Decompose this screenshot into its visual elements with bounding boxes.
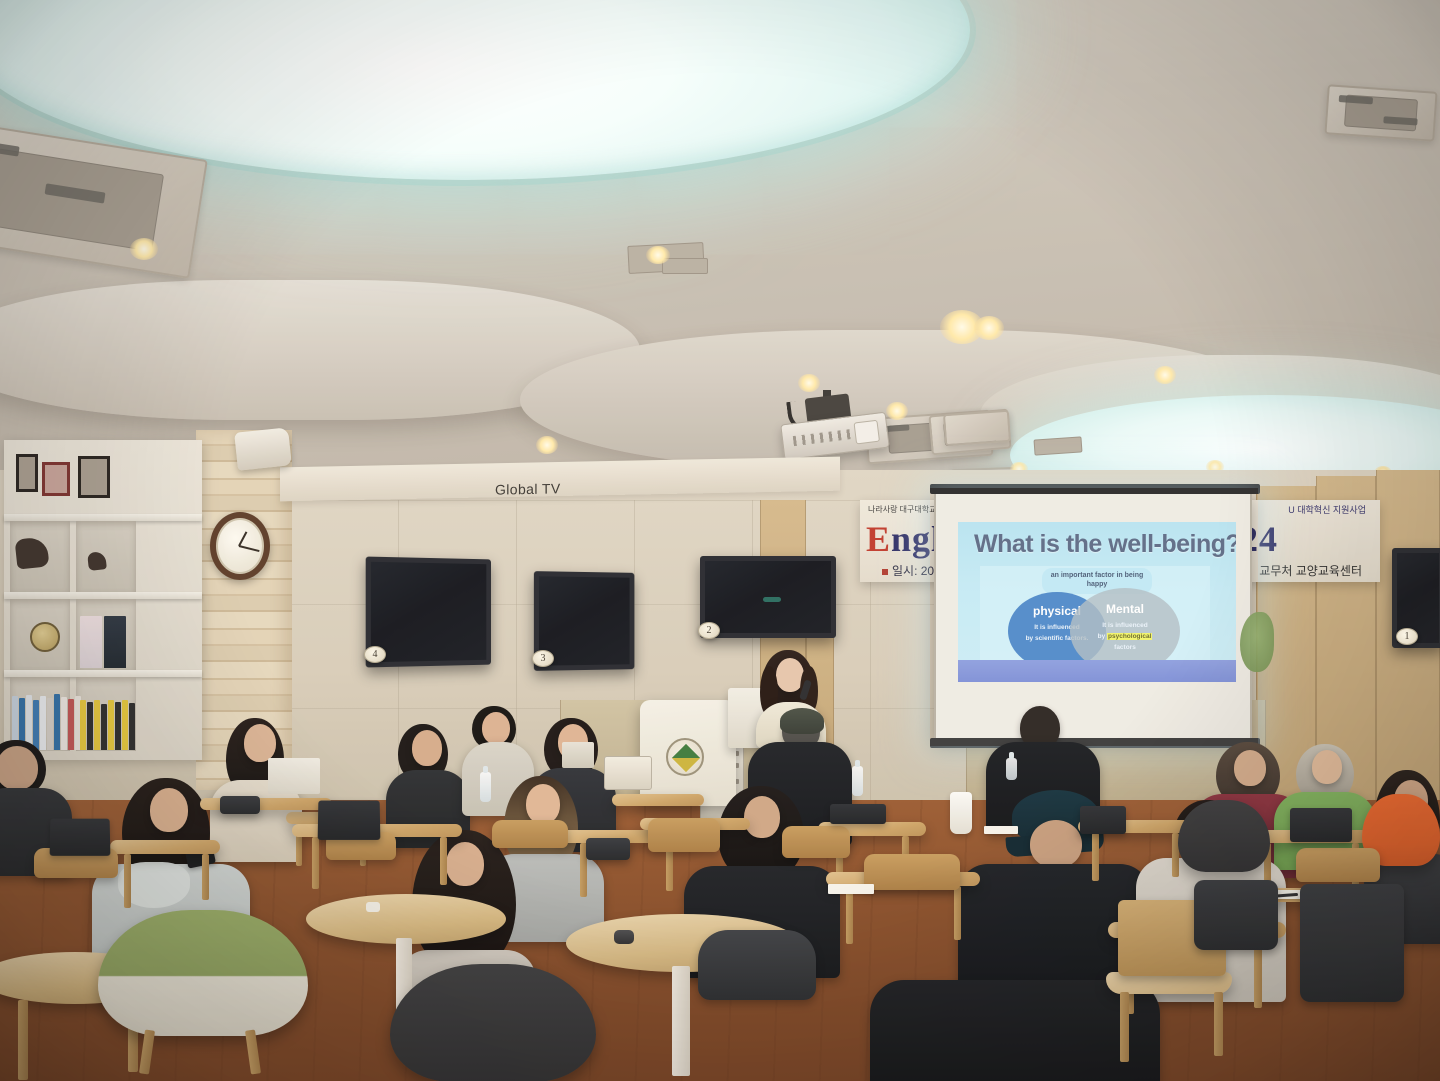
wall-tv-2 <box>700 556 836 638</box>
head <box>446 842 484 886</box>
round-table-left <box>306 894 506 944</box>
ac-vent-strip <box>943 410 1011 447</box>
table-leg <box>440 837 447 885</box>
university-crest <box>666 738 704 776</box>
picture-frame-3 <box>78 456 110 498</box>
picture-frame-1 <box>16 454 38 492</box>
audience-person-puffer <box>870 980 1160 1081</box>
chair-green-tub[interactable] <box>98 910 308 1036</box>
downlight-5 <box>798 374 820 392</box>
water-bottle-2[interactable] <box>480 772 491 802</box>
venn-sub-mental-3: factors <box>1070 644 1180 653</box>
screen-top-roller <box>930 484 1260 494</box>
tablet-left[interactable] <box>50 819 111 856</box>
paper-sheet-1 <box>828 884 874 894</box>
projection-screen: What is the well-being? an important fac… <box>934 492 1252 740</box>
torso <box>870 980 1160 1081</box>
downlight-1 <box>130 238 158 260</box>
display-book-1 <box>80 616 102 668</box>
table-leg <box>18 1000 28 1080</box>
bookshelf <box>4 440 202 760</box>
round-table-pedestal-2 <box>672 966 690 1076</box>
table-leg <box>202 854 209 900</box>
venn-label-mental: Mental <box>1070 602 1180 616</box>
chair-leg <box>1214 992 1223 1056</box>
picture-frame-2 <box>42 462 70 496</box>
head <box>412 730 442 766</box>
tablet-mid[interactable] <box>318 801 381 840</box>
downlight-7 <box>536 436 558 454</box>
head <box>526 784 560 824</box>
slide-diagram-panel: an important factor in being happy physi… <box>980 566 1210 674</box>
audience-person-green-top <box>1276 744 1374 864</box>
downlight-4 <box>974 316 1004 340</box>
chair-leg <box>1120 992 1129 1062</box>
desktop-equipment-2 <box>562 742 594 768</box>
chair-dark-tub-left[interactable] <box>390 964 596 1081</box>
head <box>744 796 780 838</box>
tumbler-cup[interactable] <box>950 792 972 834</box>
head <box>1234 750 1266 786</box>
desktop-equipment <box>604 756 652 790</box>
banner-program-tag: U 대학혁신 지원사업 <box>1288 503 1366 516</box>
paper-sheet-3 <box>984 826 1018 834</box>
presentation-slide: What is the well-being? an important fac… <box>958 522 1236 682</box>
table-leg <box>1092 833 1099 881</box>
banner-title-initial: E <box>866 519 891 559</box>
shelf-board-3 <box>4 670 202 677</box>
table-leg <box>312 837 319 889</box>
tv-badge-4: 4 <box>364 646 386 663</box>
chair-wood-back-7[interactable] <box>492 820 568 848</box>
display-book-2 <box>104 616 126 668</box>
banner-org-line: 나라사랑 대구대학교 <box>868 504 936 515</box>
head <box>244 724 276 762</box>
laptop-right-2[interactable] <box>1080 806 1126 834</box>
lecture-hall-photo: Global TV <box>0 0 1440 1081</box>
water-bottle-3[interactable] <box>1006 758 1017 780</box>
slide-footer-band <box>958 660 1236 682</box>
banner-dept-line: 교무처 교양교육센터 <box>1259 562 1362 579</box>
ceiling-speaker <box>234 427 292 470</box>
venn-sub-mental-prefix: by <box>1098 633 1107 640</box>
bag-right-2[interactable] <box>1194 880 1278 950</box>
pencil-case[interactable] <box>586 838 630 860</box>
shelf-board-1 <box>4 514 202 521</box>
slide-title: What is the well-being? <box>974 530 1236 559</box>
chair-wood-back-1[interactable] <box>648 818 720 852</box>
ceiling-vent-b <box>662 258 708 274</box>
table-leg <box>124 854 131 908</box>
laptop-right[interactable] <box>1290 808 1352 842</box>
global-tv-sign: Global TV <box>495 480 561 497</box>
table-leg <box>846 886 853 944</box>
chair-dark-tub-right[interactable] <box>1178 800 1270 872</box>
chair-wood-back-4[interactable] <box>1296 848 1380 882</box>
shelf-board-2 <box>4 592 202 599</box>
venn-sub-mental-2: by psychological <box>1070 633 1180 642</box>
head <box>482 712 510 744</box>
book-row-right <box>80 698 135 750</box>
backpack-right[interactable] <box>1300 884 1404 1002</box>
ac-unit-right <box>1324 84 1437 142</box>
head <box>1030 820 1082 868</box>
beanie <box>780 708 824 734</box>
ceiling-vent-c <box>1034 436 1083 455</box>
downlight-6 <box>886 402 908 420</box>
chair-wood-back-3[interactable] <box>864 854 960 890</box>
tv-badge-2: 2 <box>698 622 720 639</box>
table-item-eraser <box>366 902 380 912</box>
venn-sub-mental-highlight: psychological <box>1107 633 1152 640</box>
decorative-plate <box>30 622 60 652</box>
wireless-mouse <box>614 930 634 944</box>
downlight-2 <box>646 246 670 264</box>
head <box>1312 750 1342 784</box>
water-bottle-1[interactable] <box>852 766 863 796</box>
table-back-left <box>110 840 220 854</box>
chair-wood-back-2[interactable] <box>782 826 850 858</box>
head <box>150 788 188 832</box>
plant <box>1240 612 1274 672</box>
downlight-11 <box>1154 366 1176 384</box>
shelf-cell-2 <box>76 521 136 592</box>
tv-badge-3: 3 <box>532 650 554 667</box>
chair-dark-center[interactable] <box>698 930 816 1000</box>
wall-clock <box>210 512 270 580</box>
table-leg <box>954 886 961 940</box>
venn-sub-mental-1: It is influenced <box>1070 622 1180 631</box>
tv-badge-1: 1 <box>1396 628 1418 645</box>
table-center-back <box>612 794 704 806</box>
book-stack <box>268 758 320 794</box>
head <box>0 746 38 790</box>
projector-lens <box>854 420 881 445</box>
notebook-podium-side[interactable] <box>830 804 886 824</box>
pouch[interactable] <box>220 796 260 814</box>
